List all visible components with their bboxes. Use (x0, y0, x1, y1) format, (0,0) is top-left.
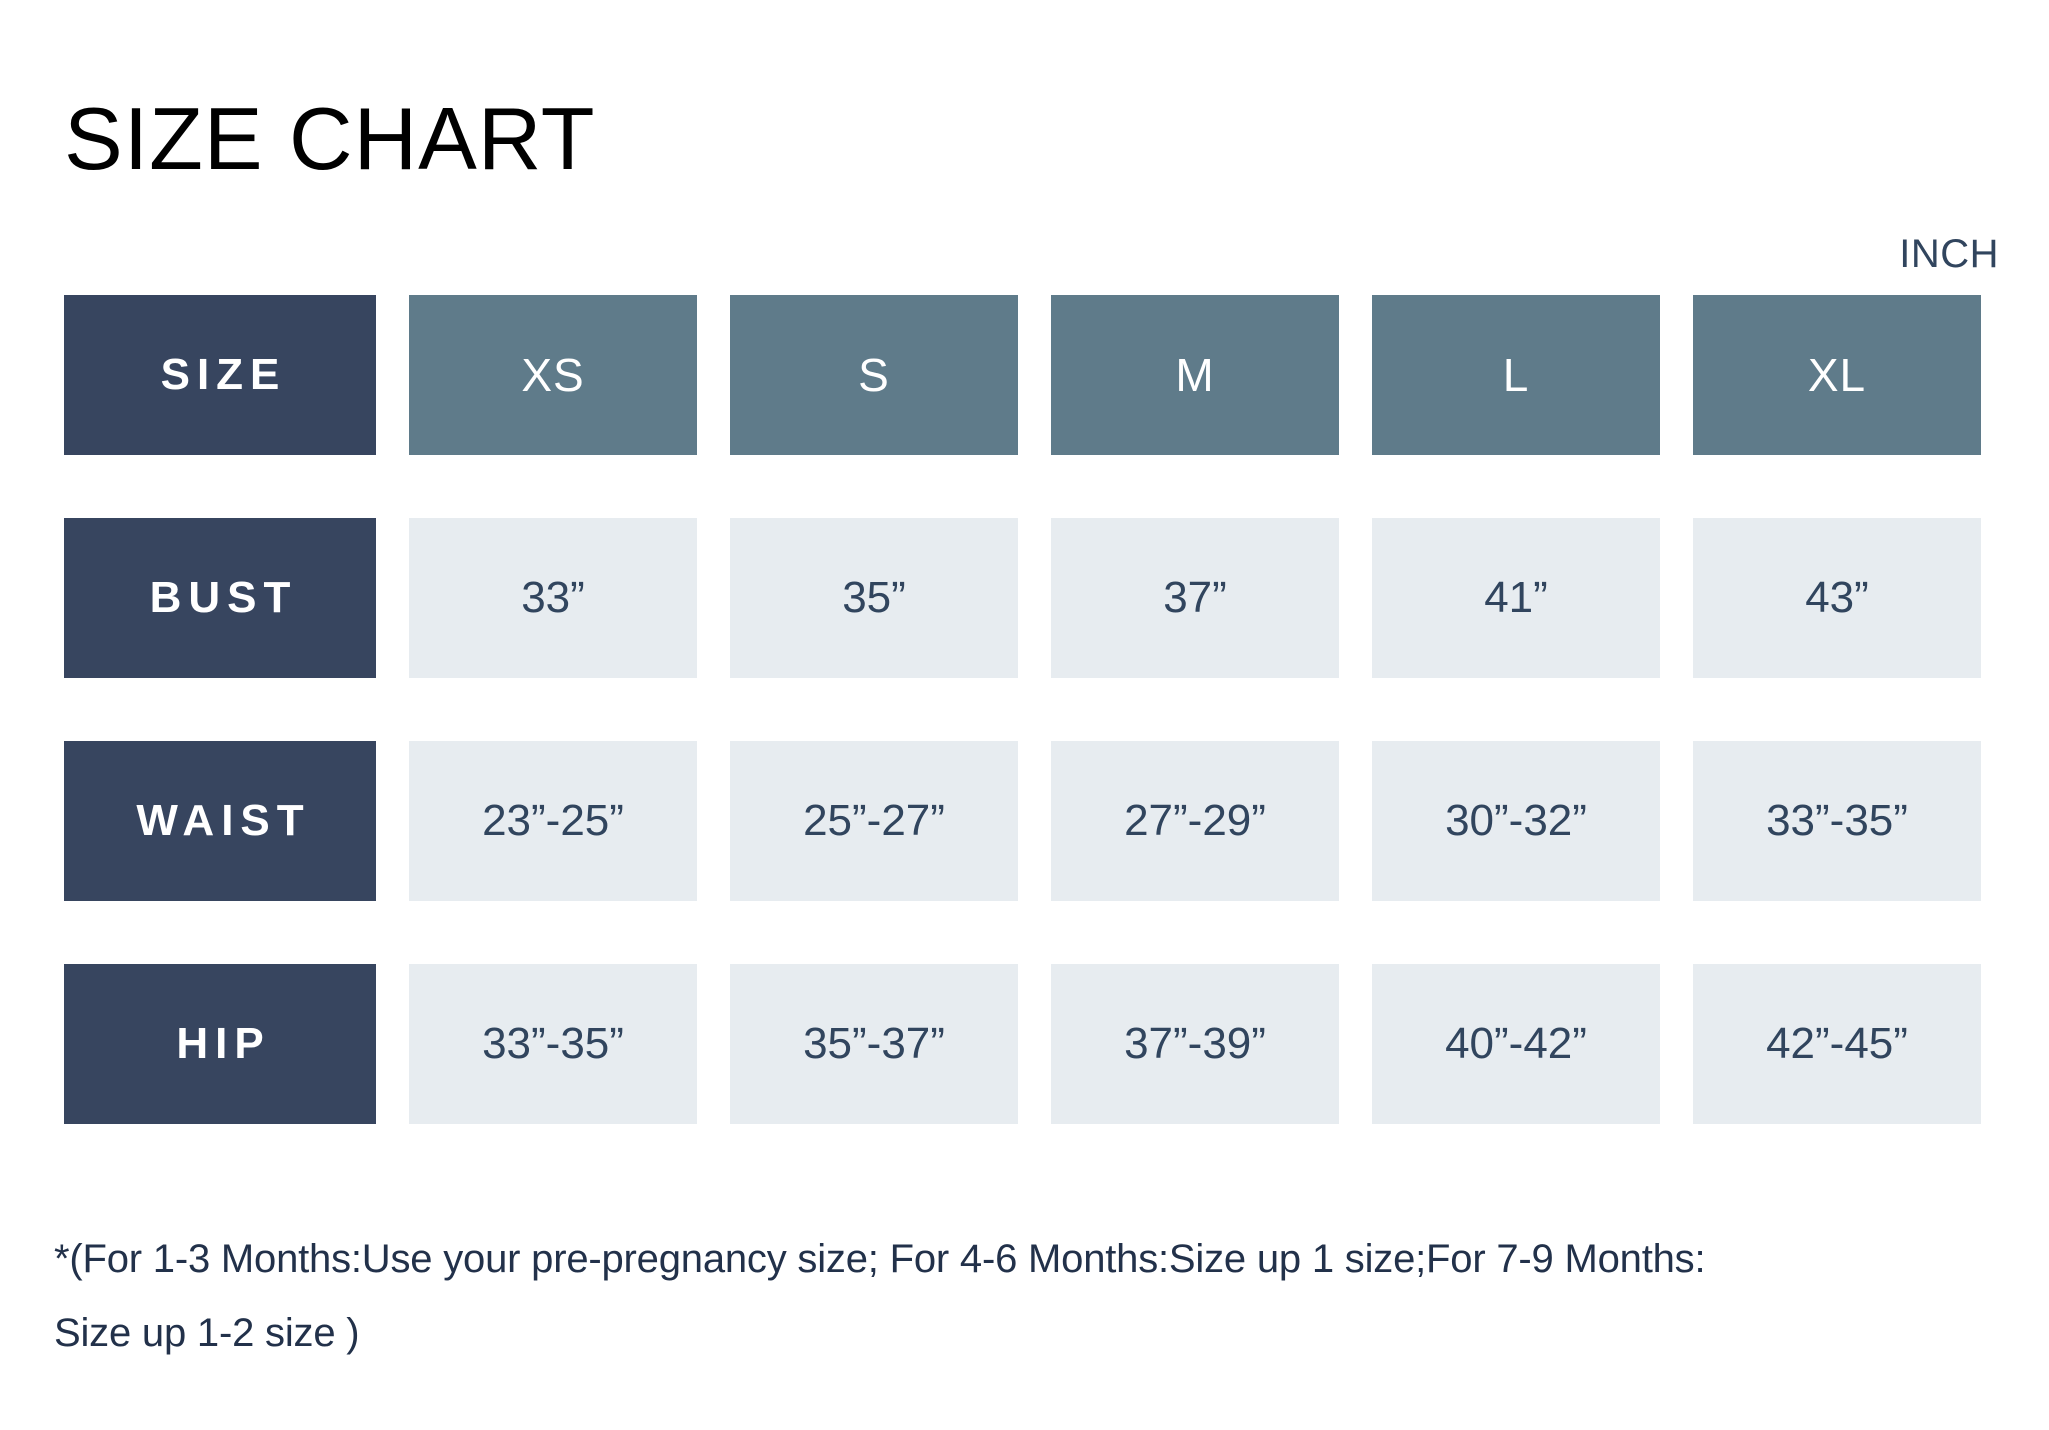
cell-hip-s: 35”-37” (730, 964, 1018, 1124)
unit-label: INCH (1899, 232, 1999, 276)
cell-waist-s: 25”-27” (730, 741, 1018, 901)
header-cell-xs: XS (409, 295, 697, 455)
footnote-line-2: Size up 1-2 size ) (54, 1296, 2029, 1370)
cell-hip-m: 37”-39” (1051, 964, 1339, 1124)
footnote: *(For 1-3 Months:Use your pre-pregnancy … (54, 1222, 2029, 1370)
cell-waist-xl: 33”-35” (1693, 741, 1981, 901)
header-cell-xl: XL (1693, 295, 1981, 455)
page-title: SIZE CHART (64, 92, 596, 186)
cell-hip-l: 40”-42” (1372, 964, 1660, 1124)
cell-hip-xl: 42”-45” (1693, 964, 1981, 1124)
header-cell-l: L (1372, 295, 1660, 455)
cell-bust-m: 37” (1051, 518, 1339, 678)
cell-hip-xs: 33”-35” (409, 964, 697, 1124)
cell-waist-xs: 23”-25” (409, 741, 697, 901)
cell-bust-s: 35” (730, 518, 1018, 678)
header-cell-s: S (730, 295, 1018, 455)
cell-bust-l: 41” (1372, 518, 1660, 678)
row-spacer (64, 455, 1999, 518)
table-row-hip: HIP 33”-35” 35”-37” 37”-39” 40”-42” 42”-… (64, 964, 1999, 1124)
footnote-line-1: *(For 1-3 Months:Use your pre-pregnancy … (54, 1222, 2029, 1296)
size-chart-page: SIZE CHART INCH SIZE XS S M L XL BUST 33… (0, 0, 2049, 1430)
header-cell-size: SIZE (64, 295, 376, 455)
table-row-bust: BUST 33” 35” 37” 41” 43” (64, 518, 1999, 678)
cell-bust-xl: 43” (1693, 518, 1981, 678)
row-spacer (64, 901, 1999, 964)
cell-waist-l: 30”-32” (1372, 741, 1660, 901)
row-spacer (64, 678, 1999, 741)
row-label-waist: WAIST (64, 741, 376, 901)
cell-waist-m: 27”-29” (1051, 741, 1339, 901)
size-chart-table: SIZE XS S M L XL BUST 33” 35” 37” 41” 43… (64, 295, 1999, 1124)
header-cell-m: M (1051, 295, 1339, 455)
table-header-row: SIZE XS S M L XL (64, 295, 1999, 455)
row-label-hip: HIP (64, 964, 376, 1124)
table-row-waist: WAIST 23”-25” 25”-27” 27”-29” 30”-32” 33… (64, 741, 1999, 901)
row-label-bust: BUST (64, 518, 376, 678)
cell-bust-xs: 33” (409, 518, 697, 678)
